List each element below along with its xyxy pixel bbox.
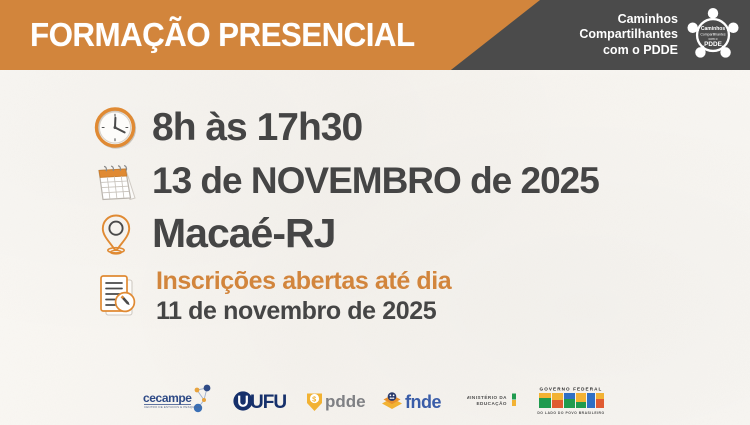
registration-line-1: Inscrições abertas até dia [156,266,451,296]
governo-federal-top: GOVERNO FEDERAL [540,387,603,392]
brand-line-2: Compartilhantes [579,27,678,43]
document-pen-icon [92,268,144,326]
registration-text-block: Inscrições abertas até dia 11 de novembr… [156,266,451,327]
info-row-time: 8h às 17h30 [88,102,362,154]
info-text-time: 8h às 17h30 [152,106,362,150]
clock-icon [88,102,144,154]
fnde-logo: fnde [379,386,453,416]
info-text-date: 13 de NOVEMBRO de 2025 [152,160,599,202]
info-row-date: 13 de NOVEMBRO de 2025 [88,155,599,207]
mec-logo: MINISTÉRIO DA EDUCAÇÃO [467,386,519,416]
mec-line-1: MINISTÉRIO DA [467,393,507,400]
brand-line-1: Caminhos [618,12,678,28]
logo-line-1: Caminhos [701,26,725,32]
cecampe-logo: cecampe CENTRO DE ESTUDOS E PESQUISAS [141,386,219,416]
ufu-logo: UFU [233,386,289,416]
mec-line-2: EDUCAÇÃO [476,400,507,406]
fnde-label: fnde [405,392,441,412]
map-pin-icon [88,207,144,259]
page-title: FORMAÇÃO PRESENCIAL [30,0,415,70]
governo-federal-logo: GOVERNO FEDERAL DO LADO DO POVO BRASILEI… [533,386,609,416]
cecampe-label: cecampe [143,391,192,405]
logo-line-2: Compartilhantes [700,32,726,36]
logo-line-4: PDDE [704,41,722,48]
brand-text: Caminhos Compartilhantes com o PDDE [579,0,678,70]
svg-text:$: $ [312,395,316,404]
info-row-place: Macaé-RJ [88,207,335,259]
ufu-label: UFU [250,392,286,413]
brand-line-3: com o PDDE [603,43,678,59]
governo-federal-bottom: DO LADO DO POVO BRASILEIRO [537,411,604,415]
poster-header: FORMAÇÃO PRESENCIAL Caminhos Compartilha… [0,0,750,70]
registration-line-2: 11 de novembro de 2025 [156,296,451,327]
cecampe-sublabel: CENTRO DE ESTUDOS E PESQUISAS [144,405,202,409]
footer-logo-bar: cecampe CENTRO DE ESTUDOS E PESQUISAS UF… [0,377,750,425]
pdde-label: pdde [325,392,365,411]
pdde-logo: $ pdde [303,386,365,416]
info-text-place: Macaé-RJ [152,210,335,257]
poster-content: 8h às 17h30 [0,70,750,370]
calendar-icon [88,155,144,207]
caminhos-pdde-circle-logo-icon: Caminhos Compartilhantes com o PDDE [684,6,742,64]
poster-canvas: FORMAÇÃO PRESENCIAL Caminhos Compartilha… [0,0,750,425]
info-row-registration: Inscrições abertas até dia 11 de novembr… [92,266,451,327]
